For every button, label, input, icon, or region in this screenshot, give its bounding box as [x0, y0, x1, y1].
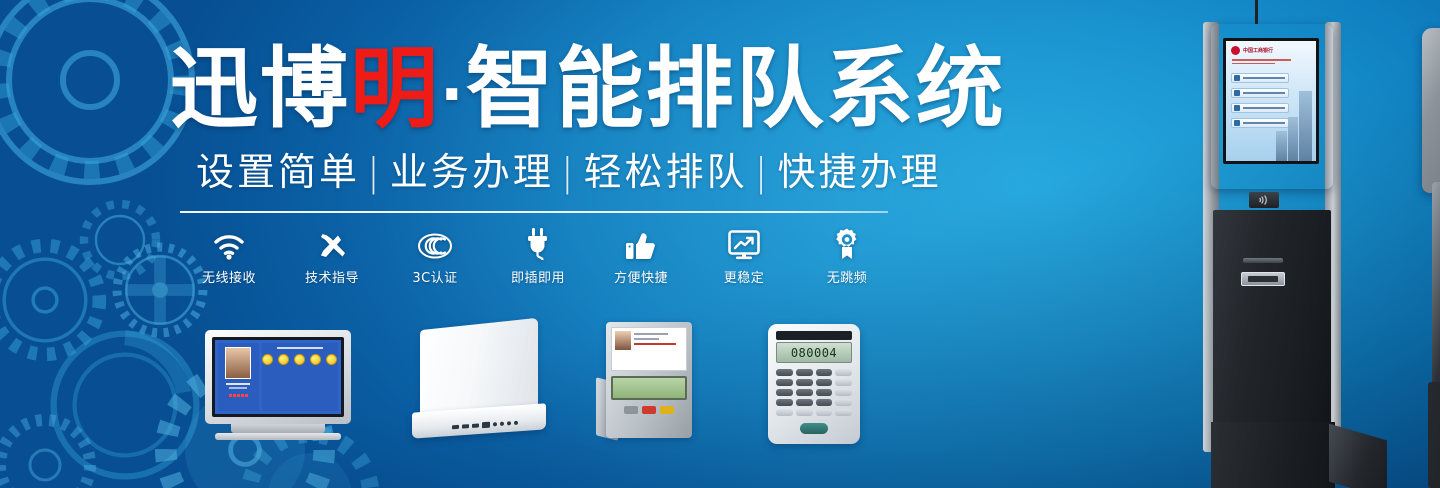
key[interactable]	[776, 399, 793, 406]
power-plug-icon	[524, 226, 552, 260]
key[interactable]	[776, 409, 793, 416]
subtitle-separator: |	[748, 150, 778, 194]
award-ribbon-icon	[835, 226, 859, 260]
product-caller-keypad: 080004	[768, 324, 860, 444]
title-lead: 迅博	[170, 37, 350, 140]
key[interactable]	[835, 399, 852, 406]
feature-item-wireless: 无线接收	[180, 226, 278, 286]
key[interactable]	[835, 409, 852, 416]
subtitle-item-2: 业务办理	[390, 150, 554, 194]
face-very-unsatisfied[interactable]	[326, 354, 337, 365]
keypad-top-strip	[776, 331, 852, 340]
staff-id-card	[611, 327, 687, 371]
face-very-satisfied[interactable]	[262, 354, 273, 365]
title-separator: ·	[440, 58, 466, 131]
title-highlight: 明	[350, 37, 440, 140]
keypad-display-value: 080004	[791, 346, 837, 360]
evaluation-prompt-line	[277, 347, 323, 349]
key[interactable]	[816, 379, 833, 386]
monitor-foot	[215, 433, 341, 440]
screen-notice-lines	[1232, 59, 1302, 66]
subtitle: 设置简单|业务办理|轻松排队|快捷办理	[196, 148, 896, 196]
section-divider	[180, 211, 888, 213]
bank-logo: 中国工商银行	[1231, 46, 1273, 55]
product-evaluation-monitor	[205, 330, 351, 442]
key[interactable]	[816, 399, 833, 406]
ticket-kiosk-icbc: 中国工商银行	[1203, 14, 1343, 488]
monitor-bezel	[212, 337, 344, 417]
key[interactable]	[796, 369, 813, 376]
key[interactable]	[796, 379, 813, 386]
kiosk-body	[1432, 182, 1440, 392]
subtitle-item-1: 设置简单	[196, 150, 360, 194]
staff-photo	[615, 331, 631, 350]
feature-label: 技术指导	[305, 267, 359, 286]
key[interactable]	[776, 389, 793, 396]
kiosk-foot-block	[1329, 424, 1387, 488]
banner-content: 迅博明·智能排队系统 设置简单|业务办理|轻松排队|快捷办理	[0, 0, 920, 488]
staff-name-line	[226, 383, 250, 385]
monitor-chart-icon	[728, 226, 760, 260]
evaluation-panel	[262, 343, 338, 411]
kiosk-body	[1213, 210, 1331, 454]
key[interactable]	[835, 379, 852, 386]
button-satisfied[interactable]	[624, 406, 638, 414]
page-title: 迅博明·智能排队系统	[170, 40, 910, 138]
staff-photo	[225, 347, 251, 379]
card-reader[interactable]	[1241, 272, 1285, 286]
feature-item-ccc: 3C认证	[386, 226, 484, 286]
staff-id-line	[229, 387, 247, 389]
keypad-keys[interactable]	[776, 369, 852, 416]
key[interactable]	[816, 389, 833, 396]
feature-list: 无线接收 技术指导	[180, 226, 896, 288]
key[interactable]	[796, 409, 813, 416]
subtitle-separator: |	[360, 150, 390, 194]
face-unsatisfied[interactable]	[310, 354, 321, 365]
keypad-display: 080004	[776, 342, 852, 363]
key[interactable]	[835, 389, 852, 396]
title-tail: 智能排队系统	[466, 37, 1006, 140]
menu-item[interactable]	[1231, 73, 1289, 83]
product-desktop-evaluator	[590, 322, 696, 444]
antenna-icon	[1255, 0, 1258, 24]
keypad-enter-button[interactable]	[800, 423, 828, 434]
feature-item-tech-support: 技术指导	[283, 226, 381, 286]
face-satisfied[interactable]	[278, 354, 289, 365]
kiosk-head: 中国农业银行	[1422, 28, 1440, 193]
satisfaction-faces	[262, 354, 338, 365]
ticket-slot[interactable]	[1243, 258, 1283, 263]
monitor-frame	[205, 330, 351, 424]
kiosk-screen[interactable]: 中国工商银行	[1226, 41, 1316, 161]
keypad-body: 080004	[768, 324, 860, 444]
feature-label: 无线接收	[202, 267, 256, 286]
monitor-screen	[215, 340, 341, 414]
face-neutral[interactable]	[294, 354, 305, 365]
wifi-icon	[212, 226, 246, 260]
rating-stars	[229, 394, 248, 397]
feature-label: 无跳频	[827, 267, 868, 286]
feature-label: 更稳定	[724, 267, 765, 286]
staff-panel	[218, 343, 259, 411]
ccc-certification-icon	[417, 226, 453, 260]
feature-item-plug-and-play: 即插即用	[489, 226, 587, 286]
kiosk-head: 中国工商银行	[1211, 24, 1333, 189]
subtitle-separator: |	[554, 150, 584, 194]
button-neutral[interactable]	[660, 406, 674, 414]
monitor-stand	[231, 424, 325, 433]
kiosk-bezel: 中国工商银行	[1223, 38, 1319, 164]
key[interactable]	[776, 369, 793, 376]
feature-label: 即插即用	[511, 267, 565, 286]
bank-logo-mark	[1231, 46, 1240, 55]
kiosk-base	[1428, 382, 1440, 488]
evaluator-lcd	[611, 376, 687, 400]
subtitle-item-3: 轻松排队	[584, 150, 748, 194]
button-unsatisfied[interactable]	[642, 406, 656, 414]
key[interactable]	[796, 389, 813, 396]
key[interactable]	[816, 409, 833, 416]
feature-item-stable: 更稳定	[695, 226, 793, 286]
thumbs-up-icon	[625, 226, 657, 260]
feature-item-convenient: 方便快捷	[592, 226, 690, 286]
key[interactable]	[816, 369, 833, 376]
feature-label: 3C认证	[412, 267, 457, 286]
feature-label: 方便快捷	[614, 267, 668, 286]
product-host-control-box	[412, 324, 546, 442]
kiosk-base	[1211, 422, 1335, 488]
bank-name: 中国工商银行	[1243, 47, 1273, 54]
building-photo	[1274, 89, 1314, 161]
key[interactable]	[796, 399, 813, 406]
evaluator-body	[606, 322, 692, 438]
staff-info-lines	[634, 331, 683, 367]
feature-item-no-frequency-hopping: 无跳频	[798, 226, 896, 286]
product-gallery: 080004	[190, 318, 900, 458]
ticket-kiosk-abc: 中国农业银行	[1430, 10, 1440, 488]
subtitle-item-4: 快捷办理	[777, 150, 941, 194]
tools-icon	[317, 226, 347, 260]
nfc-reader-icon[interactable]	[1249, 192, 1279, 208]
key[interactable]	[835, 369, 852, 376]
kiosk-group: 中国农业银行	[960, 0, 1440, 488]
promo-banner: 迅博明·智能排队系统 设置简单|业务办理|轻松排队|快捷办理	[0, 0, 1440, 488]
key[interactable]	[776, 379, 793, 386]
evaluator-buttons[interactable]	[611, 406, 687, 414]
